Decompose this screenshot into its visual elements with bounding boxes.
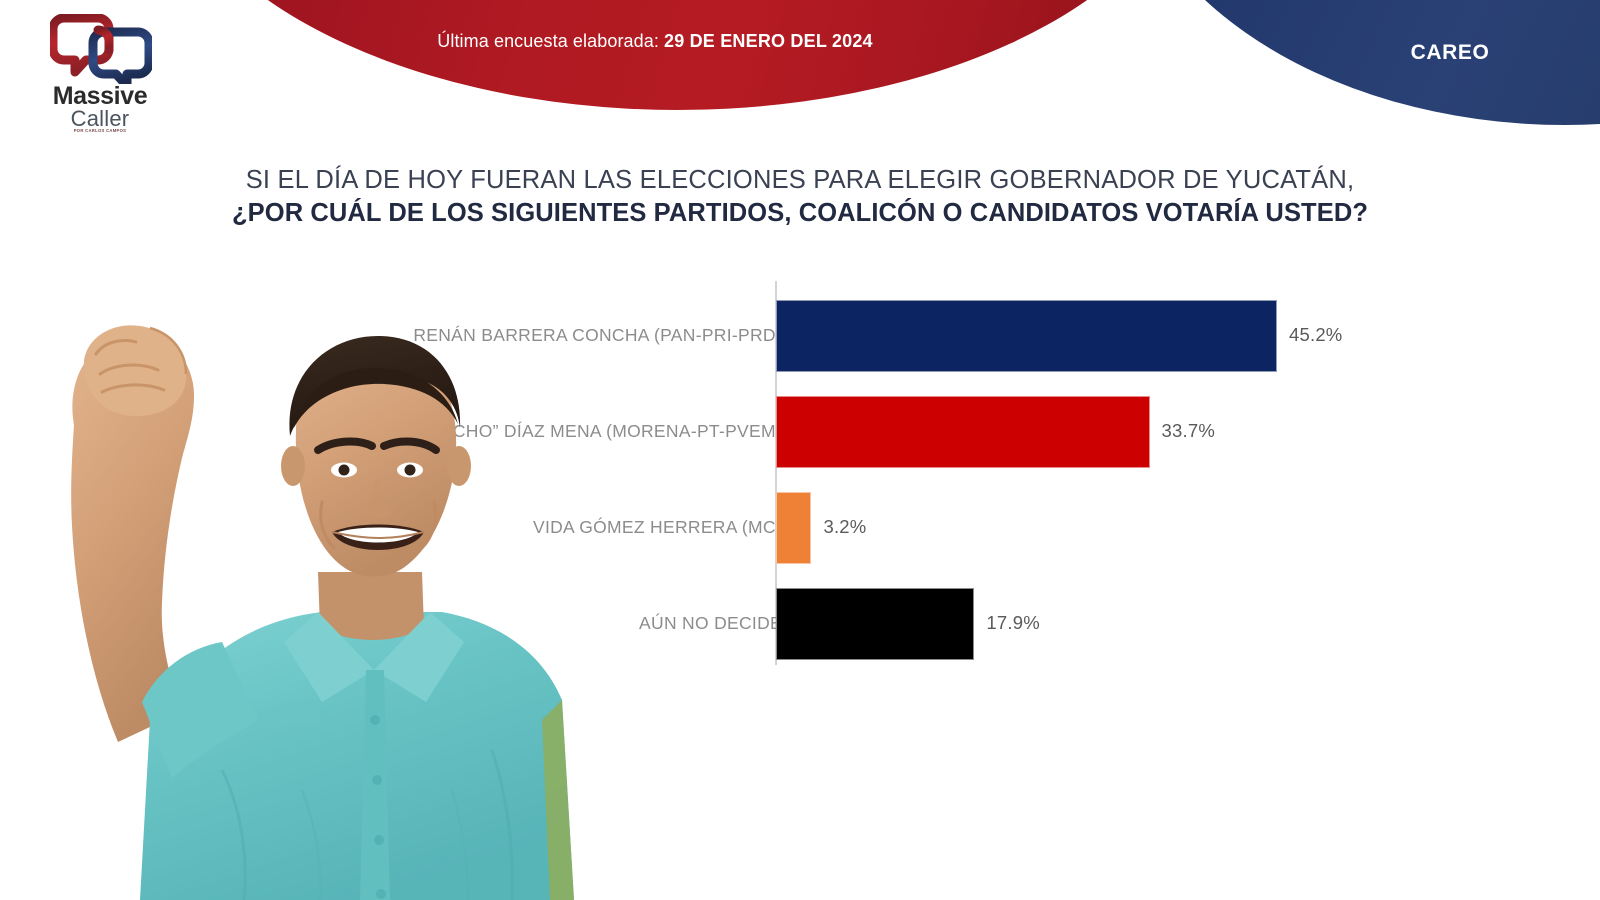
candidate-photo xyxy=(22,250,582,900)
bar-value-label: 17.9% xyxy=(986,612,1039,634)
bar-category-label: AÚN NO DECIDE xyxy=(639,613,782,634)
bar-segment[interactable] xyxy=(776,588,974,660)
bar-segment[interactable] xyxy=(776,300,1277,372)
bar-value-label: 33.7% xyxy=(1162,420,1215,442)
bar-value-label: 3.2% xyxy=(823,516,866,538)
bar-value-label: 45.2% xyxy=(1289,324,1342,346)
bar-segment[interactable] xyxy=(776,396,1150,468)
bar-segment[interactable] xyxy=(776,492,811,564)
